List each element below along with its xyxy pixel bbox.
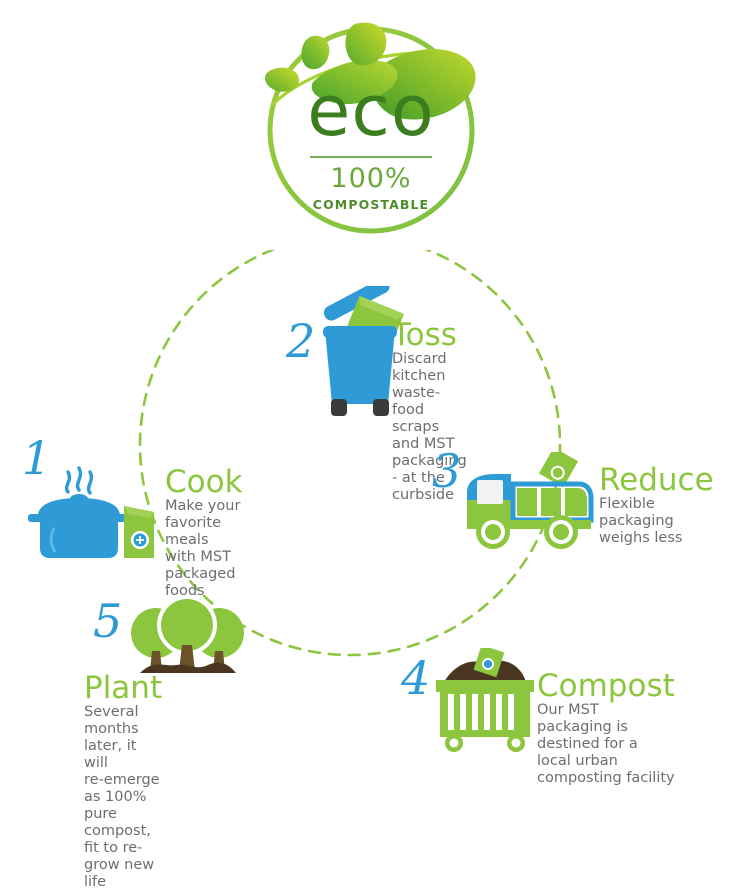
pot-lid bbox=[38, 498, 120, 516]
step-title-reduce: Reduce bbox=[599, 464, 714, 496]
compost-rim bbox=[436, 680, 534, 692]
leaf-smallest bbox=[265, 68, 299, 92]
step-title-toss: Toss bbox=[392, 319, 467, 351]
tree-canopy-center bbox=[161, 599, 213, 651]
step-description-compost: Our MST packaging is destined for a loca… bbox=[537, 702, 675, 787]
eco-badge-graphic bbox=[255, 8, 487, 240]
garbage-truck-icon bbox=[461, 452, 596, 556]
step-description-plant: Several months later, it will re-emerge … bbox=[84, 704, 162, 891]
step-description-reduce: Flexible packaging weighs less bbox=[599, 496, 714, 547]
pot-handles bbox=[28, 514, 132, 522]
step-number-5: 5 bbox=[93, 598, 121, 644]
step-title-cook: Cook bbox=[165, 466, 243, 498]
bin-wheel-left bbox=[331, 399, 347, 416]
leaf-tiny bbox=[301, 36, 329, 69]
step-number-4: 4 bbox=[401, 655, 429, 701]
leaf-upper bbox=[345, 23, 386, 66]
step-text-reduce: Reduce Flexible packaging weighs less bbox=[599, 464, 714, 547]
infographic-canvas: eco 100% COMPOSTABLE 2 bbox=[0, 0, 750, 779]
cook-package bbox=[124, 506, 154, 558]
step-title-plant: Plant bbox=[84, 672, 162, 704]
cooking-pot-icon bbox=[28, 466, 163, 565]
step-title-compost: Compost bbox=[537, 670, 675, 702]
step-description-cook: Make your favorite meals with MST packag… bbox=[165, 498, 243, 600]
compost-bin-icon bbox=[430, 648, 540, 757]
truck-window bbox=[477, 480, 503, 504]
bin-body bbox=[325, 330, 395, 404]
step-text-plant: Plant Several months later, it will re-e… bbox=[84, 672, 162, 891]
trees-icon bbox=[130, 593, 245, 682]
steam-lines bbox=[67, 468, 92, 493]
step-text-cook: Cook Make your favorite meals with MST p… bbox=[165, 466, 243, 600]
step-number-3: 3 bbox=[432, 448, 460, 494]
bin-wheel-right bbox=[373, 399, 389, 416]
eco-compostable-badge: eco 100% COMPOSTABLE bbox=[255, 8, 487, 240]
step-text-compost: Compost Our MST packaging is destined fo… bbox=[537, 670, 675, 787]
